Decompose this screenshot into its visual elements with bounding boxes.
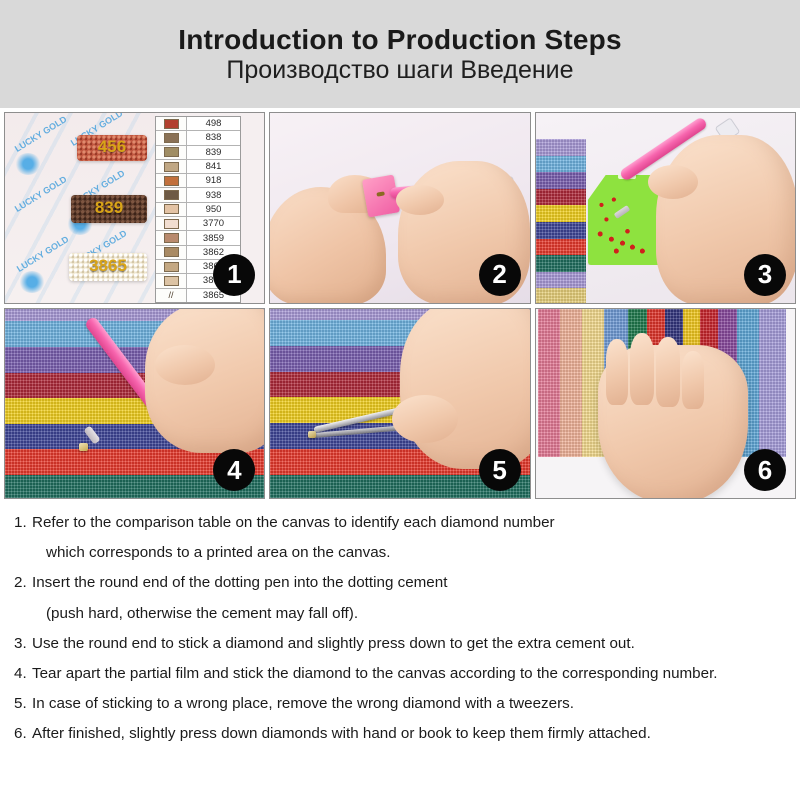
page-header: Introduction to Production Steps Произво… — [0, 0, 800, 108]
panel-insert-pen-into-cement: 2 — [269, 112, 530, 304]
instruction-text: Refer to the comparison table on the can… — [32, 515, 786, 530]
symbol-cell — [156, 117, 187, 130]
instructions-list: 1. Refer to the comparison table on the … — [0, 503, 800, 800]
panel-pick-up-diamond-from-tray: 3 — [535, 112, 796, 304]
table-row: 950 — [156, 203, 240, 217]
instruction-text: Use the round end to stick a diamond and… — [32, 636, 786, 651]
symbol-cell — [156, 231, 187, 244]
instruction-item-continuation: (push hard, otherwise the cement may fal… — [14, 606, 786, 621]
instruction-item: 5. In case of sticking to a wrong place,… — [14, 696, 786, 711]
symbol-glyph: // — [168, 291, 173, 300]
symbol-cell — [156, 246, 187, 259]
color-swatch — [164, 190, 179, 200]
instruction-text: After finished, slightly press down diam… — [32, 726, 786, 741]
color-swatch — [164, 147, 179, 157]
instruction-text: (push hard, otherwise the cement may fal… — [32, 606, 786, 621]
removed-diamond — [308, 431, 316, 438]
color-swatch — [164, 247, 179, 257]
color-swatch — [164, 262, 179, 272]
symbol-cell — [156, 217, 187, 230]
page-title-english: Introduction to Production Steps — [178, 25, 621, 54]
instruction-number: 5. — [14, 696, 32, 711]
diamond-bag-label: 456 — [98, 137, 126, 157]
instruction-text: In case of sticking to a wrong place, re… — [32, 696, 786, 711]
diamond-bag: 839 — [71, 195, 147, 223]
step-badge: 3 — [744, 254, 786, 296]
code-cell: 841 — [187, 160, 240, 173]
diamond-bag: 3865 — [69, 253, 147, 281]
color-swatch — [164, 162, 179, 172]
index-finger — [155, 345, 215, 385]
instruction-text: which corresponds to a printed area on t… — [32, 545, 786, 560]
table-row: 3770 — [156, 217, 240, 231]
finger — [606, 339, 628, 405]
color-swatch — [164, 276, 179, 286]
color-swatch — [164, 176, 179, 186]
finger — [682, 351, 704, 409]
instruction-number-spacer — [14, 606, 32, 621]
instruction-item-continuation: which corresponds to a printed area on t… — [14, 545, 786, 560]
table-row: 839 — [156, 146, 240, 160]
diamond-bag-label: 839 — [95, 198, 123, 218]
instruction-text: Insert the round end of the dotting pen … — [32, 575, 786, 590]
code-cell: 918 — [187, 174, 240, 187]
film-logo-icon: LUCKY GOLD — [13, 174, 69, 214]
symbol-cell — [156, 260, 187, 273]
symbol-cell — [156, 174, 187, 187]
instruction-item: 1. Refer to the comparison table on the … — [14, 515, 786, 530]
code-cell: 3770 — [187, 217, 240, 230]
symbol-cell — [156, 146, 187, 159]
instruction-item: 6. After finished, slightly press down d… — [14, 726, 786, 741]
page-title-russian: Производство шаги Введение — [226, 57, 573, 83]
hand — [145, 308, 265, 453]
right-index-finger — [396, 185, 444, 215]
index-finger — [648, 165, 698, 199]
panel-remove-with-tweezers: 5 — [269, 308, 530, 500]
panel-press-down-with-hand: 6 — [535, 308, 796, 500]
instruction-number: 4. — [14, 666, 32, 681]
step-badge: 2 — [479, 254, 521, 296]
code-cell: 950 — [187, 203, 240, 216]
thumb — [392, 395, 458, 443]
symbol-cell — [156, 203, 187, 216]
code-cell: 498 — [187, 117, 240, 130]
color-swatch — [164, 204, 179, 214]
code-cell: 938 — [187, 188, 240, 201]
finger — [656, 337, 680, 407]
symbol-cell: // — [156, 289, 187, 302]
instruction-number: 6. — [14, 726, 32, 741]
step-badge: 1 — [213, 254, 255, 296]
infographic-page: Introduction to Production Steps Произво… — [0, 0, 800, 800]
code-cell: 839 — [187, 146, 240, 159]
film-logo-icon: LUCKY GOLD — [13, 114, 69, 154]
diamond-bag: 456 — [77, 135, 147, 161]
table-row: 838 — [156, 131, 240, 145]
instruction-text: Tear apart the partial film and stick th… — [32, 666, 786, 681]
color-swatch — [164, 219, 179, 229]
film-logo-mark-icon — [19, 271, 45, 293]
panel-place-diamond-on-canvas: 4 — [4, 308, 265, 500]
instruction-number: 1. — [14, 515, 32, 530]
instruction-item: 4. Tear apart the partial film and stick… — [14, 666, 786, 681]
table-row: 918 — [156, 174, 240, 188]
color-swatch — [164, 119, 179, 129]
instruction-number: 3. — [14, 636, 32, 651]
code-cell: 838 — [187, 131, 240, 144]
finger — [630, 333, 654, 405]
symbol-cell — [156, 188, 187, 201]
color-swatch — [164, 133, 179, 143]
table-row: 3859 — [156, 231, 240, 245]
symbol-cell — [156, 131, 187, 144]
table-row: 498 — [156, 117, 240, 131]
table-row: 841 — [156, 160, 240, 174]
instruction-number-spacer — [14, 545, 32, 560]
step-badge: 5 — [479, 449, 521, 491]
cement-hole — [377, 191, 386, 196]
striped-canvas — [536, 139, 586, 304]
step-photo-grid: LUCKY GOLD LUCKY GOLD LUCKY GOLD LUCKY G… — [0, 108, 800, 503]
panel-diamond-bags-and-color-chart: LUCKY GOLD LUCKY GOLD LUCKY GOLD LUCKY G… — [4, 112, 265, 304]
instruction-item: 2. Insert the round end of the dotting p… — [14, 575, 786, 590]
diamond-on-pen-tip — [79, 443, 88, 451]
table-row: 938 — [156, 188, 240, 202]
hand — [400, 308, 530, 469]
instruction-item: 3. Use the round end to stick a diamond … — [14, 636, 786, 651]
symbol-cell — [156, 160, 187, 173]
symbol-cell — [156, 274, 187, 287]
color-swatch — [164, 233, 179, 243]
code-cell: 3859 — [187, 231, 240, 244]
film-logo-icon: LUCKY GOLD — [15, 234, 71, 274]
instruction-number: 2. — [14, 575, 32, 590]
red-diamonds-in-tray — [594, 193, 656, 259]
film-logo-mark-icon — [15, 153, 41, 175]
diamond-bag-label: 3865 — [89, 256, 127, 276]
step-badge: 6 — [744, 449, 786, 491]
